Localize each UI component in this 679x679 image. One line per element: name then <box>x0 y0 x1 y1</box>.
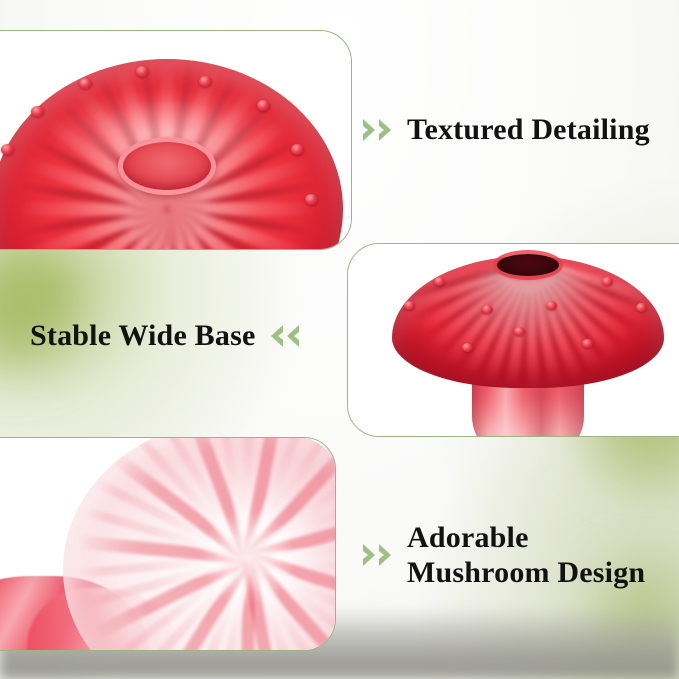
vase-bump <box>514 327 525 336</box>
vase-bump <box>462 343 473 352</box>
cap-bump <box>136 66 149 77</box>
caption-textured-detailing: Textured Detailing <box>362 112 650 147</box>
chevron-right-icon <box>362 118 393 142</box>
vase-bump <box>582 339 593 348</box>
photo-base-closeup <box>0 438 335 650</box>
base-ribs <box>63 437 336 651</box>
caption-text: Adorable Mushroom Design <box>407 520 645 591</box>
infographic-canvas: Textured Detailing Stable Wide Base Ador… <box>0 0 679 679</box>
cap-opening-ring <box>118 137 216 195</box>
cap-bump <box>291 144 304 155</box>
vase-bump <box>404 301 415 310</box>
caption-stable-wide-base: Stable Wide Base <box>30 318 300 353</box>
photo-cap-topdown <box>0 31 351 249</box>
vase-bump <box>546 301 557 310</box>
caption-text: Stable Wide Base <box>30 318 255 353</box>
chevron-left-icon <box>269 324 300 348</box>
cap-bump <box>199 76 212 87</box>
panel-stable-base <box>0 437 336 651</box>
cap-bump <box>257 100 270 111</box>
chevron-right-icon <box>362 543 393 567</box>
panel-whole-vase <box>347 243 679 437</box>
cap-bump <box>305 194 318 205</box>
vase-bump <box>636 303 647 312</box>
cap-bump <box>79 78 92 89</box>
caption-text: Textured Detailing <box>407 112 650 147</box>
cap-bump <box>1 144 14 155</box>
vase-bump <box>482 305 493 314</box>
base-frosted-bulb <box>63 437 336 651</box>
mushroom-vase <box>392 248 664 436</box>
photo-whole-vase <box>348 244 679 436</box>
vase-bump <box>602 277 613 286</box>
mushroom-cap-topdown <box>0 59 343 249</box>
cap-bump <box>31 106 44 117</box>
vase-opening <box>497 254 559 276</box>
vase-bump <box>434 277 445 286</box>
caption-adorable-mushroom-design: Adorable Mushroom Design <box>362 520 645 591</box>
panel-textured-detailing <box>0 30 352 250</box>
